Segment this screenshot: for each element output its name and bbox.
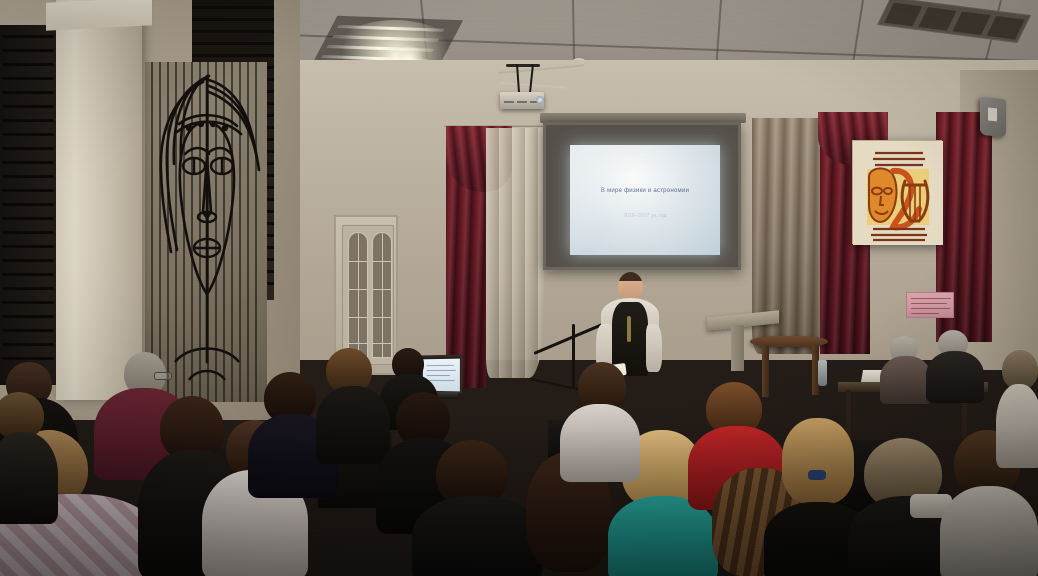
muse-lyre-book-emblem <box>852 140 942 244</box>
curtain-sheer-left <box>486 128 544 378</box>
door-pane-right <box>372 232 392 358</box>
judge-2-body <box>926 351 984 403</box>
door-panel <box>342 225 394 365</box>
iron-face-lines <box>145 62 267 402</box>
water-bottle <box>818 360 827 386</box>
screen-glare <box>570 145 720 255</box>
presenter-head <box>618 272 643 301</box>
wall-pillar <box>56 0 142 400</box>
projection-screen-frame: В мире физики и астрономии 2016–2017 уч.… <box>543 122 741 270</box>
audience-student-far-left-edge <box>0 392 56 512</box>
projector-lens <box>536 96 544 104</box>
audience-student-center-white <box>560 362 640 472</box>
slide-title: В мире физики и астрономии <box>570 187 720 194</box>
eyeglasses <box>154 372 172 380</box>
door-pane-left <box>348 232 368 358</box>
judge-1-body <box>880 356 932 404</box>
lectern-stem <box>731 325 744 371</box>
projection-screen-surface: В мире физики и астрономии 2016–2017 уч.… <box>570 145 720 255</box>
left-iron-grille <box>0 25 60 385</box>
wrought-iron-face-sculpture <box>145 62 267 402</box>
body <box>560 404 640 482</box>
presenter-necklace <box>627 316 631 342</box>
body <box>940 486 1038 576</box>
hair-tie <box>808 470 826 480</box>
body <box>996 384 1038 468</box>
body <box>0 432 58 524</box>
projector-ceiling-mount <box>506 64 540 67</box>
auditorium-photo: В мире физики и астрономии 2016–2017 уч.… <box>0 0 1038 576</box>
slide-subtitle: 2016–2017 уч. год <box>570 213 720 219</box>
audience-student-far-right-edge <box>1000 350 1038 460</box>
head <box>782 418 854 504</box>
wall-mounted-speaker <box>980 97 1006 138</box>
notice-sign <box>906 292 954 318</box>
judge-2 <box>926 330 986 400</box>
presenter-right-sleeve <box>646 324 662 372</box>
